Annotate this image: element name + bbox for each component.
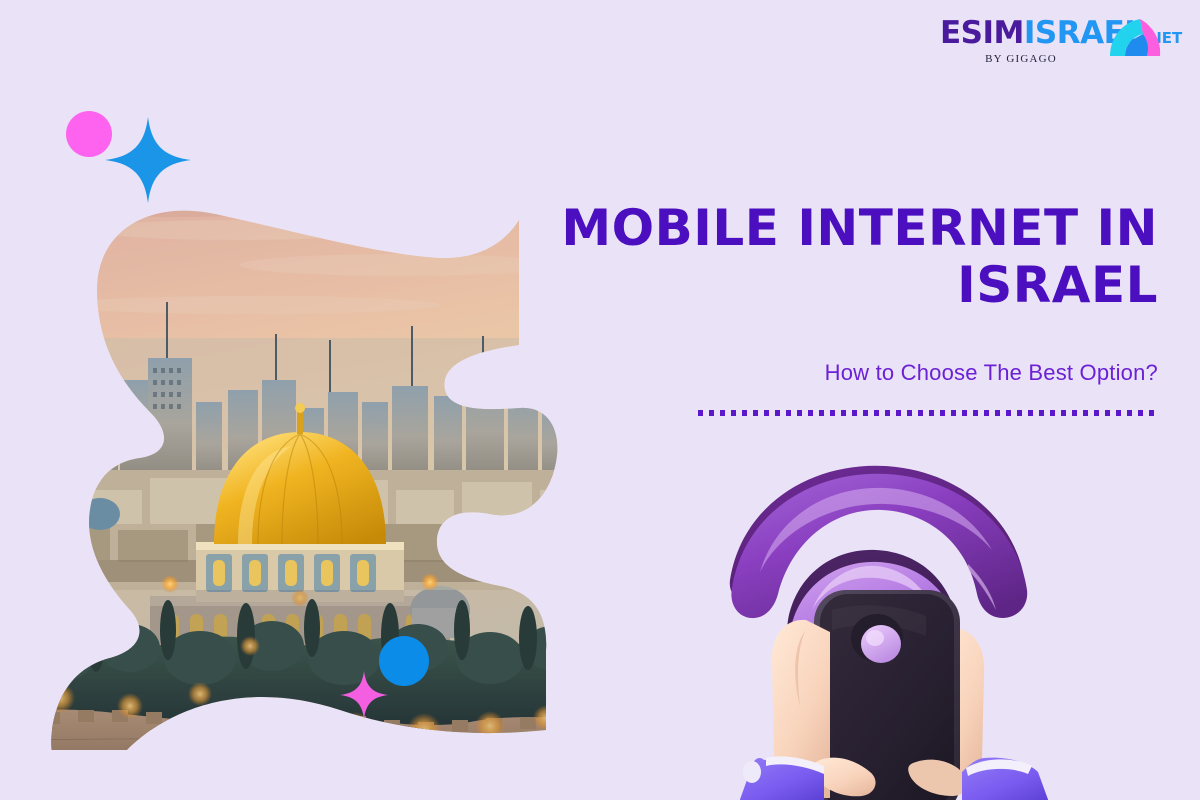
headline-line-1: MOBILE INTERNET IN bbox=[558, 200, 1158, 257]
logo-byline: BY GIGAGO bbox=[940, 53, 1102, 65]
esimisrael-logo[interactable]: ESIMISRAEL.NET BY GIGAGO bbox=[940, 18, 1160, 88]
signal-fan-icon bbox=[1106, 14, 1162, 58]
hand-holding-phone-wifi-illustration bbox=[720, 460, 1050, 800]
page-title: MOBILE INTERNET IN ISRAEL bbox=[558, 200, 1158, 314]
photo-collage bbox=[0, 90, 580, 750]
sleeve-left bbox=[738, 756, 824, 800]
dotted-divider bbox=[698, 410, 1158, 416]
sleeve-right bbox=[962, 758, 1050, 800]
banner-canvas: ESIMISRAEL.NET BY GIGAGO MOBILE INTERNET… bbox=[0, 0, 1200, 800]
pink-sparkle-icon bbox=[340, 670, 388, 720]
jerusalem-skyline-photo bbox=[0, 90, 580, 750]
blue-sparkle-icon bbox=[105, 114, 191, 206]
headline-block: MOBILE INTERNET IN ISRAEL How to Choose … bbox=[558, 200, 1158, 416]
logo-esim-text: ESIM bbox=[940, 15, 1024, 51]
subtitle: How to Choose The Best Option? bbox=[558, 360, 1158, 386]
headline-line-2: ISRAEL bbox=[558, 257, 1158, 314]
